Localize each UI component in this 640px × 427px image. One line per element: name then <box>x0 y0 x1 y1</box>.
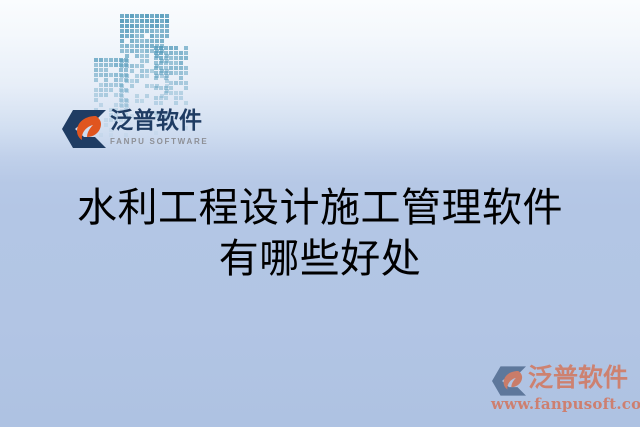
fanpu-logo-mark-icon <box>62 110 106 148</box>
logo-chinese-name: 泛普软件 <box>110 108 214 134</box>
watermark-logo-mark-icon <box>492 366 526 396</box>
watermark-url: www.fanpusoft.com <box>491 395 640 413</box>
logo-english-name: FANPU SOFTWARE <box>110 137 214 146</box>
logo-text-lockup: 泛普软件 FANPU SOFTWARE <box>110 108 214 146</box>
fanpusoft-watermark: 泛普软件 www.fanpusoft.com <box>490 360 632 418</box>
watermark-chinese-name: 泛普软件 <box>528 362 628 394</box>
poster-canvas: 泛普软件 FANPU SOFTWARE 水利工程设计施工管理软件 有哪些好处 泛… <box>0 0 640 427</box>
page-title-line-1: 水利工程设计施工管理软件 <box>0 183 640 234</box>
fanpu-software-logo: 泛普软件 FANPU SOFTWARE <box>62 108 212 154</box>
page-title: 水利工程设计施工管理软件 有哪些好处 <box>0 183 640 285</box>
pixel-buildings-graphic <box>94 14 184 106</box>
page-title-line-2: 有哪些好处 <box>0 234 640 285</box>
